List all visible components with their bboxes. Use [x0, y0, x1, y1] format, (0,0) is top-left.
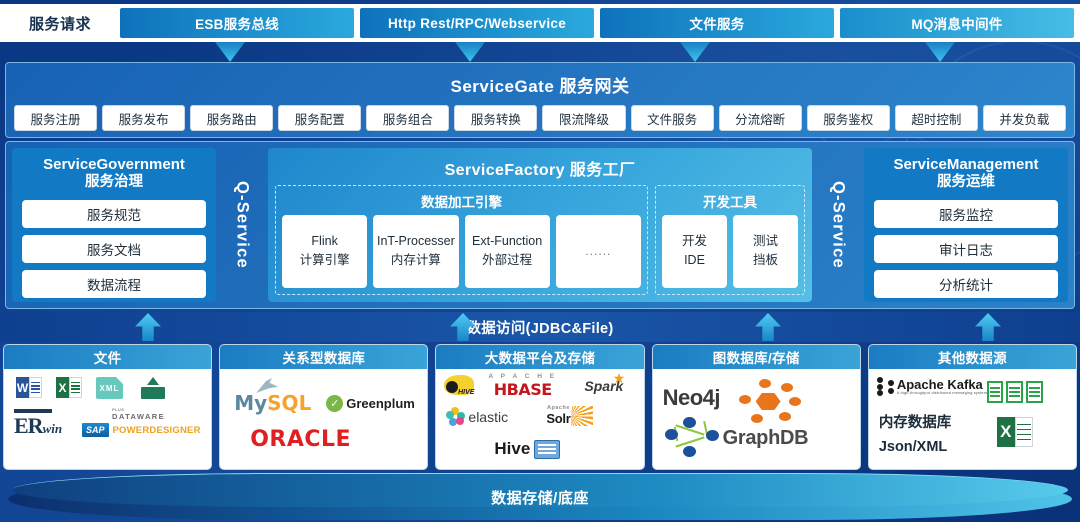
service-factory-columns: 数据加工引擎 Flink 计算引擎 InT-Processer 内存计算 Ext…	[275, 185, 805, 295]
upload-box-icon	[140, 377, 166, 399]
diagram-canvas: 服务请求 ESB服务总线 Http Rest/RPC/Webservice 文件…	[0, 0, 1080, 522]
source-card-files[interactable]: 文件 W X XML	[3, 344, 212, 470]
tools-tile-dev-ide[interactable]: 开发 IDE	[662, 215, 727, 288]
service-gate-capability-list: 服务注册 服务发布 服务路由 服务配置 服务组合 服务转换 限流降级 文件服务 …	[6, 97, 1074, 131]
engine-tile-int-processer-name: InT-Processer	[377, 235, 455, 249]
gate-capability-rate-limit[interactable]: 限流降级	[542, 105, 625, 131]
management-item-service-monitor[interactable]: 服务监控	[874, 200, 1058, 228]
solr-logo-rays	[571, 406, 593, 426]
elastic-logo-text: elastic	[468, 409, 508, 425]
service-government-title: ServiceGovernment 服务治理	[22, 156, 206, 191]
spark-logo-star: ★	[613, 370, 626, 387]
chevron-down-icon	[215, 42, 245, 62]
gate-capability-timeout[interactable]: 超时控制	[895, 105, 978, 131]
tools-tile-dev-desc: IDE	[684, 254, 705, 268]
governance-item-service-spec[interactable]: 服务规范	[22, 200, 206, 228]
chevron-down-icon	[455, 42, 485, 62]
q-service-right-column: Q-Service	[812, 148, 864, 302]
greenplum-logo-text: Greenplum	[346, 396, 415, 411]
source-card-rdbms[interactable]: 关系型数据库 MySQL Greenplum ORACLE	[219, 344, 428, 470]
governance-item-data-flow[interactable]: 数据流程	[22, 270, 206, 298]
orbit-nodes-icon	[739, 379, 801, 423]
service-government-title-en: ServiceGovernment	[22, 156, 206, 174]
service-factory-panel: ServiceFactory 服务工厂 数据加工引擎 Flink 计算引擎 In…	[268, 148, 812, 302]
tools-tile-test-mock[interactable]: 测试 挡板	[733, 215, 798, 288]
excel-icon: X	[56, 377, 82, 398]
service-management-title-en: ServiceManagement	[874, 156, 1058, 174]
data-storage-platform: 数据存储/底座	[0, 472, 1080, 522]
graphdb-logo: GraphDB	[723, 427, 809, 450]
service-government-title-cn: 服务治理	[22, 174, 206, 191]
kafka-logo-text: Apache Kafka	[897, 378, 989, 391]
gate-capability-file-service[interactable]: 文件服务	[631, 105, 714, 131]
gate-capability-service-config[interactable]: 服务配置	[278, 105, 361, 131]
engine-tile-int-processer-desc: 内存计算	[391, 254, 441, 268]
chevron-down-icon	[925, 42, 955, 62]
green-grid-icon	[987, 381, 1043, 403]
hive-logo-text: Hive	[494, 439, 530, 459]
data-processing-engine-tiles: Flink 计算引擎 InT-Processer 内存计算 Ext-Functi…	[282, 215, 641, 288]
gate-capability-service-publish[interactable]: 服务发布	[102, 105, 185, 131]
data-access-bar: 数据访问(JDBC&File)	[0, 312, 1080, 342]
erwin-logo-text: ER	[14, 413, 43, 438]
json-xml-label: Json/XML	[879, 439, 947, 455]
hbase-logo-apache: A P A C H E	[488, 373, 557, 380]
data-processing-engine-title: 数据加工引擎	[282, 190, 641, 215]
source-card-bigdata[interactable]: 大数据平台及存储 HIVE A P A C H E HBASE	[435, 344, 644, 470]
source-card-files-body: W X XML ERwin	[4, 369, 211, 469]
q-service-left-label: Q-Service	[233, 181, 252, 269]
excel-icon-letter: X	[56, 377, 69, 398]
word-icon-letter: W	[16, 377, 29, 398]
service-request-row: 服务请求 ESB服务总线 Http Rest/RPC/Webservice 文件…	[0, 4, 1080, 42]
tools-tile-test-desc: 挡板	[753, 254, 778, 268]
data-storage-platform-label: 数据存储/底座	[0, 472, 1080, 522]
gate-capability-concurrency[interactable]: 并发负载	[983, 105, 1066, 131]
mysql-logo-my: My	[234, 391, 267, 415]
oracle-logo: ORACLE	[250, 427, 351, 452]
mysql-logo: MySQL	[234, 391, 311, 415]
dev-tools-group: 开发工具 开发 IDE 测试 挡板	[655, 185, 805, 295]
channel-http-rest[interactable]: Http Rest/RPC/Webservice	[360, 8, 594, 38]
service-request-label: 服务请求	[6, 13, 114, 34]
chevron-down-icon	[680, 42, 710, 62]
gate-capability-service-transform[interactable]: 服务转换	[454, 105, 537, 131]
word-icon: W	[16, 377, 42, 398]
engine-tile-int-processer[interactable]: InT-Processer 内存计算	[373, 215, 458, 288]
source-card-other-body: Apache Kafka A high-throughput distribut…	[869, 369, 1076, 469]
dev-tools-title: 开发工具	[662, 190, 798, 215]
engine-tile-ext-function-name: Ext-Function	[472, 235, 542, 249]
mysql-logo-sql: SQL	[267, 391, 311, 415]
tools-tile-test-name: 测试	[753, 235, 778, 249]
data-access-label: 数据访问(JDBC&File)	[0, 312, 1080, 342]
management-item-audit-log[interactable]: 审计日志	[874, 235, 1058, 263]
source-card-files-header: 文件	[4, 345, 211, 369]
kafka-logo-mark	[877, 377, 894, 396]
engine-tile-flink[interactable]: Flink 计算引擎	[282, 215, 367, 288]
source-card-rdbms-header: 关系型数据库	[220, 345, 427, 369]
hbase-logo-text: HBASE	[488, 380, 557, 399]
governance-item-service-doc[interactable]: 服务文档	[22, 235, 206, 263]
source-card-graphdb[interactable]: 图数据库/存储 Neo4j	[652, 344, 861, 470]
source-card-bigdata-body: HIVE A P A C H E HBASE ★Spark elas	[436, 369, 643, 469]
source-card-other-header: 其他数据源	[869, 345, 1076, 369]
service-management-panel: ServiceManagement 服务运维 服务监控 审计日志 分析统计	[864, 148, 1068, 302]
solr-logo: Apache Solr	[546, 405, 570, 426]
gate-capability-service-route[interactable]: 服务路由	[190, 105, 273, 131]
dataware-logo: PLUS DATAWARE	[112, 407, 165, 421]
source-card-rdbms-body: MySQL Greenplum ORACLE	[220, 369, 427, 469]
hive-elephant-logo: HIVE	[444, 375, 474, 395]
erwin-logo: ERwin	[14, 413, 62, 439]
q-service-left-column: Q-Service	[216, 148, 268, 302]
dataware-logo-text: DATAWARE	[112, 412, 165, 421]
engine-tile-flink-desc: 计算引擎	[300, 254, 350, 268]
sap-logo: SAP	[82, 423, 109, 437]
gate-capability-service-compose[interactable]: 服务组合	[366, 105, 449, 131]
engine-tile-flink-name: Flink	[311, 235, 337, 249]
solr-logo-text: Solr	[546, 411, 570, 426]
gate-capability-service-register[interactable]: 服务注册	[14, 105, 97, 131]
hive-elephant-logo-text: HIVE	[458, 389, 474, 396]
engine-tile-ext-function[interactable]: Ext-Function 外部过程	[465, 215, 550, 288]
service-management-title: ServiceManagement 服务运维	[874, 156, 1058, 191]
tools-tile-dev-name: 开发	[682, 235, 707, 249]
powerdesigner-logo: POWERDESIGNER	[113, 425, 201, 436]
data-processing-engine-group: 数据加工引擎 Flink 计算引擎 InT-Processer 内存计算 Ext…	[275, 185, 648, 295]
spark-logo: ★Spark	[584, 378, 623, 394]
node-graph-icon	[665, 417, 719, 457]
excel-icon-letter: X	[997, 417, 1015, 447]
channel-mq[interactable]: MQ消息中间件	[840, 8, 1074, 38]
engine-tile-more[interactable]: ......	[556, 215, 641, 288]
service-management-title-cn: 服务运维	[874, 174, 1058, 191]
xml-file-icon: XML	[96, 377, 123, 399]
engine-tile-ext-function-desc: 外部过程	[482, 254, 532, 268]
gate-capability-circuit-break[interactable]: 分流熔断	[719, 105, 802, 131]
hive-logo-mark	[534, 440, 560, 459]
source-card-bigdata-header: 大数据平台及存储	[436, 345, 643, 369]
service-government-panel: ServiceGovernment 服务治理 服务规范 服务文档 数据流程	[12, 148, 216, 302]
service-government-item-list: 服务规范 服务文档 数据流程	[22, 200, 206, 298]
in-memory-db-label: 内存数据库	[879, 411, 952, 432]
middle-band: ServiceGovernment 服务治理 服务规范 服务文档 数据流程 Q-…	[5, 141, 1075, 309]
management-item-analytics[interactable]: 分析统计	[874, 270, 1058, 298]
data-source-cards: 文件 W X XML	[0, 344, 1080, 470]
excel-icon: X	[997, 417, 1033, 447]
service-gate-panel: ServiceGate 服务网关 服务注册 服务发布 服务路由 服务配置 服务组…	[5, 62, 1075, 138]
hbase-logo: A P A C H E HBASE	[488, 373, 557, 399]
source-card-graphdb-body: Neo4j	[653, 369, 860, 469]
service-gate-title: ServiceGate 服务网关	[6, 63, 1074, 97]
channel-esb[interactable]: ESB服务总线	[120, 8, 354, 38]
greenplum-logo-mark	[326, 395, 343, 412]
downward-arrows-group	[0, 42, 1080, 62]
service-management-item-list: 服务监控 审计日志 分析统计	[874, 200, 1058, 298]
erwin-logo-tail: win	[43, 421, 63, 436]
source-card-other[interactable]: 其他数据源 Apache Kafka A high-throughput dis…	[868, 344, 1077, 470]
channel-file-service[interactable]: 文件服务	[600, 8, 834, 38]
service-factory-title: ServiceFactory 服务工厂	[275, 153, 805, 185]
kafka-logo-tagline: A high-throughput distributed messaging …	[897, 391, 989, 395]
q-service-right-label: Q-Service	[829, 181, 848, 269]
gate-capability-auth[interactable]: 服务鉴权	[807, 105, 890, 131]
source-card-graphdb-header: 图数据库/存储	[653, 345, 860, 369]
dev-tools-tiles: 开发 IDE 测试 挡板	[662, 215, 798, 288]
elastic-logo-mark	[446, 407, 465, 426]
neo4j-logo: Neo4j	[663, 385, 720, 411]
